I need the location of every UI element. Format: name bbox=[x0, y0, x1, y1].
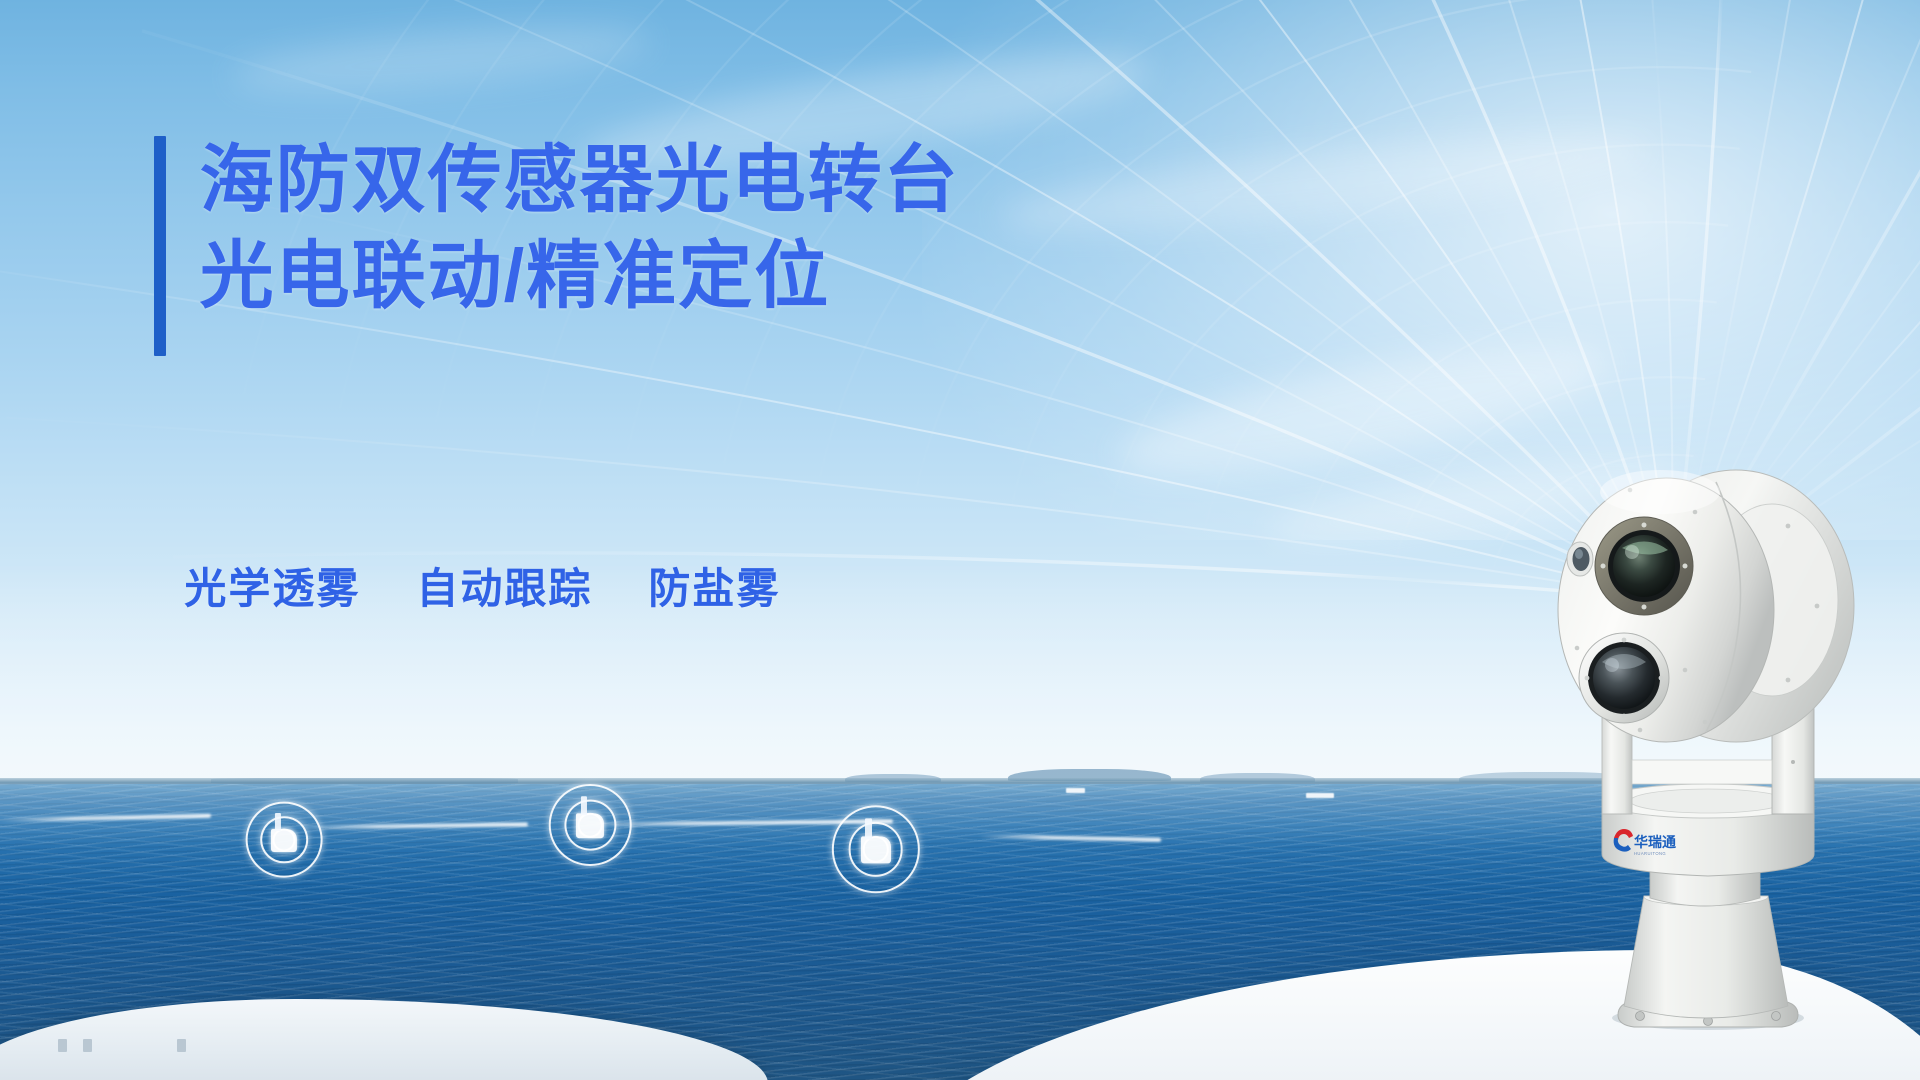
copy-block: 海防双传感器光电转台 光电联动/精准定位 光学透雾 自动跟踪 防盐雾 bbox=[0, 0, 1920, 1080]
page-title: 海防双传感器光电转台 光电联动/精准定位 bbox=[200, 132, 960, 324]
feature-tag-list: 光学透雾 自动跟踪 防盐雾 bbox=[184, 555, 780, 616]
feature-tag-salt-fog-proof: 防盐雾 bbox=[648, 555, 780, 616]
feature-tag-optical-defog: 光学透雾 bbox=[184, 555, 360, 616]
headline-line-1: 海防双传感器光电转台 bbox=[200, 132, 960, 228]
marketing-banner: 华瑞通 HUARUITONG bbox=[0, 0, 1920, 1080]
feature-tag-auto-tracking: 自动跟踪 bbox=[416, 555, 592, 616]
accent-bar bbox=[154, 136, 166, 356]
headline-line-2: 光电联动/精准定位 bbox=[200, 228, 960, 324]
